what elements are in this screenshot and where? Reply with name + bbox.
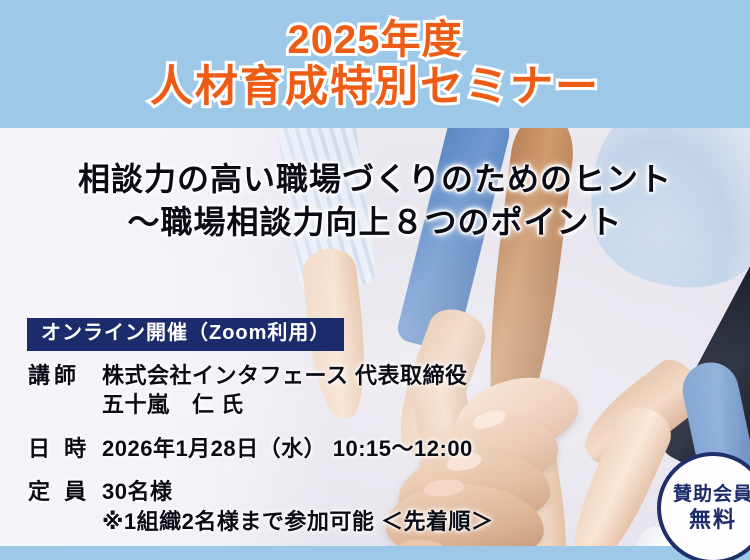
detail-row-datetime: 日 時 2026年1月28日（水） 10:15～12:00 xyxy=(28,434,750,463)
detail-label-capacity: 定 員 xyxy=(28,477,102,506)
seminar-flyer: 2025年度 人材育成特別セミナー 相談力の高い職場づくりのためのヒント ～職場… xyxy=(0,0,750,560)
title-line-1: 相談力の高い職場づくりのためのヒント xyxy=(0,160,750,199)
detail-row-capacity: 定 員 30名様 ※1組織2名様まで参加可能 ＜先着順＞ xyxy=(28,477,750,536)
title-line-2: ～職場相談力向上８つのポイント xyxy=(0,203,750,242)
lecturer-company: 株式会社インタフェース 代表取締役 xyxy=(102,363,468,388)
detail-label-lecturer: 講師 xyxy=(28,361,102,390)
capacity-count: 30名様 xyxy=(102,479,172,504)
capacity-note: ※1組織2名様まで参加可能 ＜先着順＞ xyxy=(102,507,493,536)
detail-value-datetime: 2026年1月28日（水） 10:15～12:00 xyxy=(102,434,473,463)
free-badge-line-1: 賛助会員 xyxy=(673,484,750,506)
bottom-band xyxy=(0,546,750,560)
details-block: オンライン開催（Zoom利用） 講師 株式会社インタフェース 代表取締役 五十嵐… xyxy=(0,318,750,536)
detail-value-lecturer: 株式会社インタフェース 代表取締役 五十嵐 仁 氏 xyxy=(102,361,468,420)
lecturer-name: 五十嵐 仁 氏 xyxy=(102,390,468,419)
detail-value-capacity: 30名様 ※1組織2名様まで参加可能 ＜先着順＞ xyxy=(102,477,493,536)
detail-label-datetime: 日 時 xyxy=(28,434,102,463)
header-line-seminar: 人材育成特別セミナー xyxy=(150,66,600,109)
header-line-year: 2025年度 xyxy=(288,20,463,60)
seminar-title: 相談力の高い職場づくりのためのヒント ～職場相談力向上８つのポイント xyxy=(0,160,750,242)
detail-row-lecturer: 講師 株式会社インタフェース 代表取締役 五十嵐 仁 氏 xyxy=(28,361,750,420)
free-badge-line-2: 無料 xyxy=(689,507,737,532)
online-format-badge: オンライン開催（Zoom利用） xyxy=(27,318,344,351)
header-band: 2025年度 人材育成特別セミナー xyxy=(0,0,750,128)
